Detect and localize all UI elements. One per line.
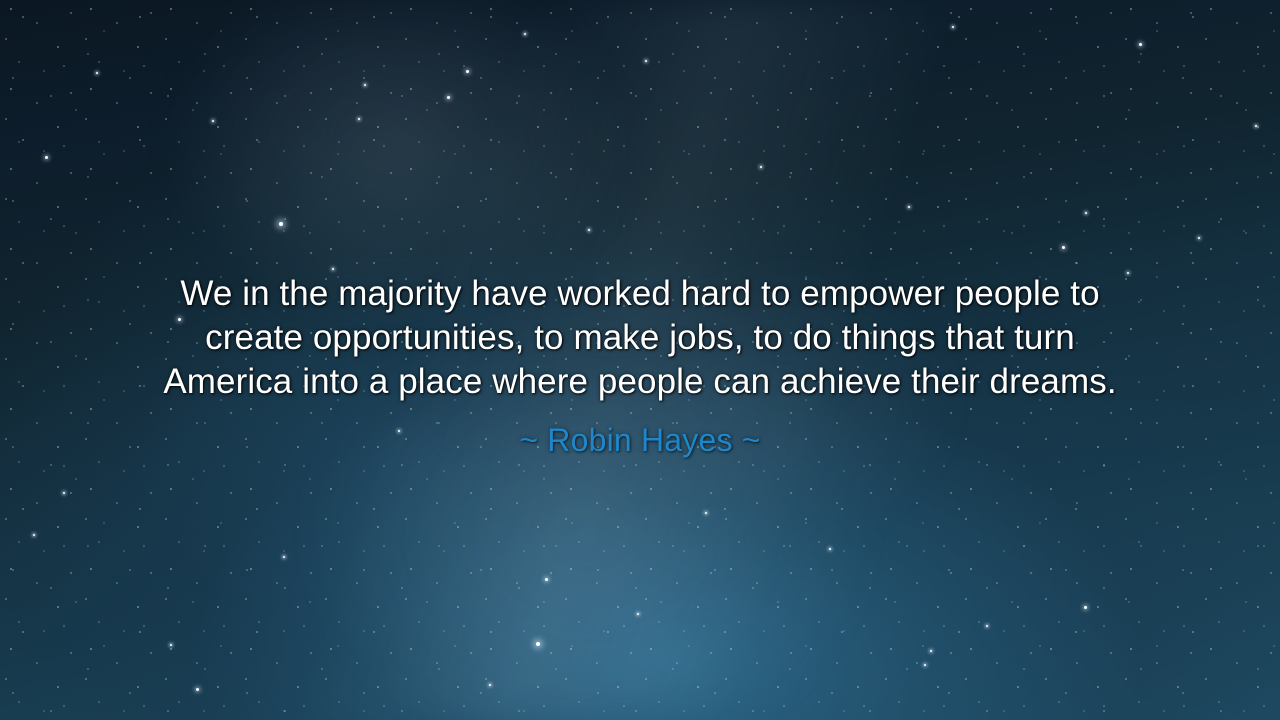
bright-star bbox=[96, 72, 98, 74]
quote-image-canvas: We in the majority have worked hard to e… bbox=[0, 0, 1280, 720]
bright-star bbox=[489, 684, 491, 686]
bright-star bbox=[829, 548, 831, 550]
bright-star bbox=[332, 268, 334, 270]
bright-star bbox=[705, 512, 707, 514]
quote-block: We in the majority have worked hard to e… bbox=[0, 272, 1280, 459]
bright-star bbox=[45, 156, 48, 159]
quote-text: We in the majority have worked hard to e… bbox=[70, 272, 1210, 404]
bright-star bbox=[952, 26, 954, 28]
bright-star bbox=[545, 578, 548, 581]
bright-star bbox=[1255, 125, 1257, 127]
bright-star bbox=[364, 84, 366, 86]
bright-star bbox=[924, 664, 926, 666]
bright-star bbox=[908, 206, 910, 208]
bright-star bbox=[986, 625, 988, 627]
bright-star bbox=[1198, 237, 1200, 239]
bright-star bbox=[524, 33, 526, 35]
bright-star bbox=[170, 644, 172, 646]
quote-attribution: ~ Robin Hayes ~ bbox=[70, 404, 1210, 459]
bright-star bbox=[536, 642, 540, 646]
bright-star bbox=[466, 70, 469, 73]
bright-star bbox=[1085, 212, 1087, 214]
bright-star bbox=[930, 650, 932, 652]
bright-star bbox=[358, 118, 360, 120]
bright-star bbox=[63, 492, 65, 494]
bright-star bbox=[645, 60, 647, 62]
bright-star bbox=[1062, 246, 1065, 249]
bright-star bbox=[760, 166, 762, 168]
bright-star bbox=[279, 222, 283, 226]
bright-star bbox=[637, 613, 639, 615]
bright-star bbox=[212, 120, 214, 122]
bright-star bbox=[283, 556, 285, 558]
bright-star bbox=[1139, 43, 1142, 46]
bright-star bbox=[33, 534, 35, 536]
bright-star bbox=[1084, 606, 1087, 609]
bright-star bbox=[196, 688, 199, 691]
bright-star bbox=[447, 96, 450, 99]
bright-star bbox=[588, 229, 590, 231]
